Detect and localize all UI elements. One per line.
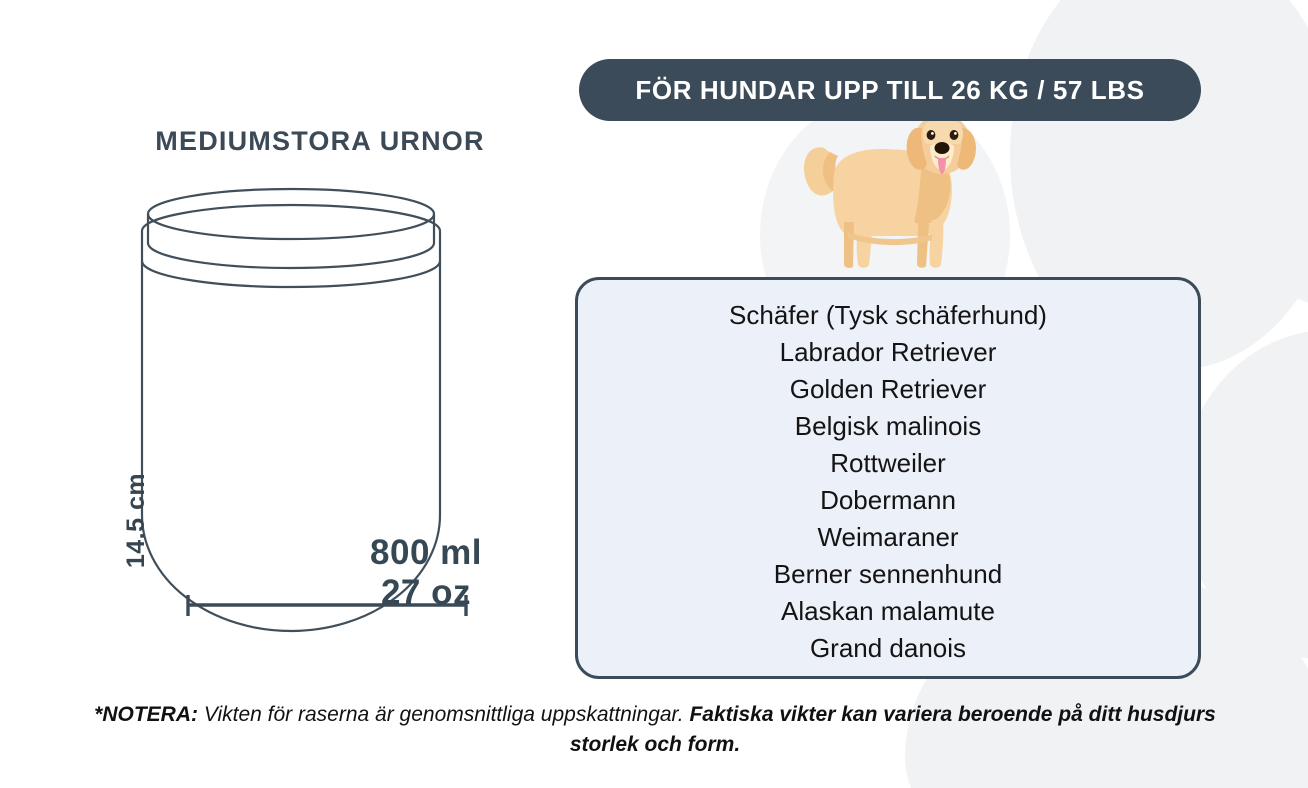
dog-nose <box>935 142 950 154</box>
urn-volume-ml: 800 ml <box>256 533 596 573</box>
breed-item: Schäfer (Tysk schäferhund) <box>729 297 1047 334</box>
breed-item: Alaskan malamute <box>781 593 995 630</box>
dog-eye-right-glint <box>954 132 957 135</box>
urn-lid-bottom-curve <box>148 243 434 268</box>
footer-disclaimer: *NOTERA: Vikten för raserna är genomsnit… <box>60 700 1250 760</box>
dog-leg-front-far <box>917 224 929 268</box>
dog-eye-right <box>950 130 959 140</box>
breed-item: Berner sennenhund <box>774 556 1002 593</box>
dog-leg-front-near <box>930 218 944 268</box>
breed-item: Weimaraner <box>817 519 958 556</box>
urn-lid-top-icon <box>148 189 434 239</box>
infographic-root: MEDIUMSTORA URNOR <box>0 0 1308 788</box>
page-title: MEDIUMSTORA URNOR <box>0 126 640 157</box>
urn-rim-top-curve <box>142 205 440 231</box>
breed-list-card: Schäfer (Tysk schäferhund) Labrador Retr… <box>575 277 1201 679</box>
footer-note-normal: Vikten för raserna är genomsnittliga upp… <box>198 703 689 726</box>
dog-leg-rear-near <box>857 220 872 268</box>
urn-diagram: 800 ml 27 oz 14.5 cm 10.3 cm <box>96 185 516 665</box>
dog-illustration-svg <box>790 104 1000 274</box>
dog-eye-left <box>927 130 936 140</box>
breed-item: Labrador Retriever <box>780 334 997 371</box>
breed-item: Golden Retriever <box>790 371 987 408</box>
urn-rim-bottom-curve <box>142 261 440 287</box>
golden-retriever-icon <box>790 104 1000 274</box>
urn-height-label: 14.5 cm <box>122 473 151 568</box>
breed-item: Dobermann <box>820 482 956 519</box>
breed-item: Grand danois <box>810 630 966 667</box>
weight-banner-text: FÖR HUNDAR UPP TILL 26 KG / 57 LBS <box>635 75 1144 106</box>
dog-eye-left-glint <box>931 132 934 135</box>
footer-note-label: *NOTERA: <box>94 703 198 726</box>
weight-banner: FÖR HUNDAR UPP TILL 26 KG / 57 LBS <box>579 59 1201 121</box>
background-blob-far-right <box>1245 95 1308 305</box>
urn-volume-text: 800 ml 27 oz <box>256 533 596 614</box>
urn-volume-oz: 27 oz <box>256 573 596 613</box>
dog-leg-rear-far <box>844 222 854 268</box>
breed-item: Rottweiler <box>830 445 946 482</box>
breed-item: Belgisk malinois <box>795 408 981 445</box>
